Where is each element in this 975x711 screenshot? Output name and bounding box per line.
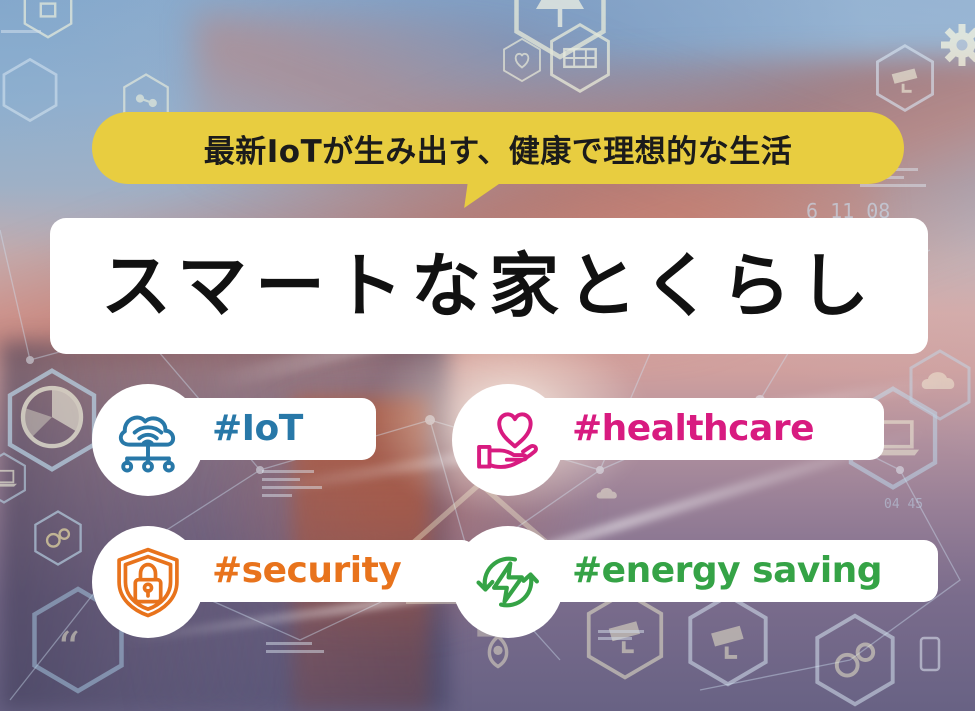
gear-icon-top-right [941,24,975,66]
tag-icon-circle [452,384,564,496]
tag-icon-circle [92,384,204,496]
hex-gears-icon-left [35,511,80,564]
hex-heart-icon [504,39,540,81]
background-readout-number-2: 04 45 [884,497,923,512]
shield-lock-icon [111,545,185,619]
hex-smartphone-icon [921,638,939,670]
svg-text:“: “ [57,622,80,675]
hex-gears-icon-bottom [817,616,892,704]
hex-laptop-icon-left [0,454,25,503]
tag-label-security: #security [212,553,401,589]
tag-chip-pill: #healthcare [510,398,884,460]
cloud-wifi-network-icon [111,403,185,477]
hex-pie-chart-icon [10,371,94,470]
hex-cctv-icon-bottom [589,593,662,678]
tag-icon-circle [452,526,564,638]
tag-icon-circle [92,526,204,638]
speech-bubble-tail [464,182,502,208]
tag-label-iot: #IoT [212,411,303,447]
title-card: スマートな家とくらし [50,218,928,354]
speech-bubble-text: 最新IoTが生み出す、健康で理想的な生活 [92,112,904,184]
tag-label-healthcare: #healthcare [572,411,814,447]
page-title: スマートな家とくらし [101,251,877,321]
tag-label-energy-saving: #energy saving [572,553,882,589]
hex-blank-icon-topleft [4,59,56,120]
recycle-bolt-icon [471,545,545,619]
tag-chip-pill: #energy saving [510,540,938,602]
hand-heart-icon [471,403,545,477]
hex-cctv-camera-icon [877,46,932,111]
hex-cctv-icon-bottom-2 [690,596,765,684]
speech-bubble: 最新IoTが生み出す、健康で理想的な生活 [92,112,904,184]
